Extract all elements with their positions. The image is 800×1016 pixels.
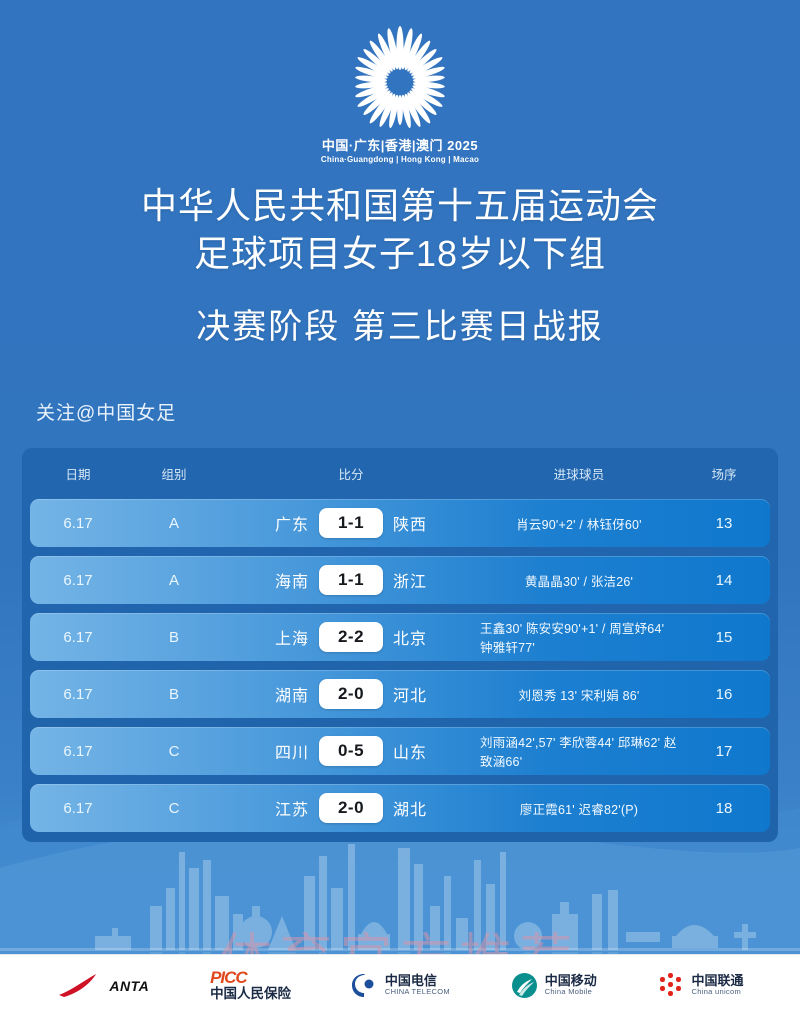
header-match: 比分 [222, 464, 480, 483]
score-pill: 1-1 [319, 565, 383, 595]
cell-match: 湖南 2-0 河北 [222, 679, 480, 709]
cell-date: 6.17 [30, 686, 126, 703]
home-team: 上海 [235, 625, 309, 649]
score-pill: 2-2 [319, 622, 383, 652]
header-scorers: 进球球员 [480, 464, 678, 483]
cell-scorers: 刘恩秀 13' 宋利娟 86' [480, 685, 678, 704]
away-team: 北京 [393, 625, 467, 649]
cell-date: 6.17 [30, 743, 126, 760]
sponsor-bar: ANTA PICC 中国人民保险 中国电信 CHINA TELECOM [0, 954, 800, 1016]
cell-group: A [126, 515, 222, 532]
results-table: 日期 组别 比分 进球球员 场序 6.17 A 广东 1-1 陕西 肖云90'+… [22, 448, 778, 842]
cell-date: 6.17 [30, 572, 126, 589]
table-row[interactable]: 6.17 C 四川 0-5 山东 刘雨涵42',57' 李欣蓉44' 邱琳62'… [30, 727, 770, 775]
score-pill: 0-5 [319, 736, 383, 766]
picc-logo-icon: PICC [210, 969, 291, 987]
sponsor-china-telecom[interactable]: 中国电信 CHINA TELECOM [352, 973, 450, 999]
sponsor-picc[interactable]: PICC 中国人民保险 [210, 969, 291, 1002]
china-telecom-logo-icon [352, 973, 378, 999]
away-team: 山东 [393, 739, 467, 763]
table-row[interactable]: 6.17 A 广东 1-1 陕西 肖云90'+2' / 林钰伢60' 13 [30, 499, 770, 547]
games-emblem: 中国·广东|香港|澳门 2025 China·Guangdong | Hong … [0, 22, 800, 164]
score-pill: 1-1 [319, 508, 383, 538]
page-title: 中华人民共和国第十五届运动会 足球项目女子18岁以下组 决赛阶段 第三比赛日战报 [0, 182, 800, 350]
cell-order: 16 [678, 686, 770, 703]
sponsor-anta[interactable]: ANTA [56, 971, 149, 1001]
cell-group: C [126, 743, 222, 760]
cell-date: 6.17 [30, 800, 126, 817]
title-line-3: 决赛阶段 第三比赛日战报 [0, 304, 800, 350]
header-order: 场序 [678, 464, 770, 483]
sponsor-mobile-label-cn: 中国移动 [545, 974, 597, 988]
sponsor-telecom-label-cn: 中国电信 [385, 974, 450, 988]
header-group: 组别 [126, 464, 222, 483]
cell-scorers: 王鑫30' 陈安安90'+1' / 周宣妤64' 钟雅轩77' [480, 618, 678, 656]
table-row[interactable]: 6.17 B 上海 2-2 北京 王鑫30' 陈安安90'+1' / 周宣妤64… [30, 613, 770, 661]
home-team: 湖南 [235, 682, 309, 706]
cell-group: B [126, 629, 222, 646]
cell-order: 14 [678, 572, 770, 589]
home-team: 江苏 [235, 796, 309, 820]
sponsor-china-unicom[interactable]: 中国联通 China unicom [658, 972, 744, 999]
china-unicom-logo-icon [658, 972, 685, 999]
china-mobile-logo-icon [511, 972, 538, 999]
emblem-title-cn: 中国·广东|香港|澳门 2025 [321, 139, 479, 154]
cell-order: 13 [678, 515, 770, 532]
title-line-2: 足球项目女子18岁以下组 [0, 230, 800, 278]
away-team: 陕西 [393, 511, 467, 535]
sunburst-emblem-icon [338, 22, 462, 134]
sponsor-anta-label: ANTA [109, 978, 149, 994]
table-row[interactable]: 6.17 A 海南 1-1 浙江 黄晶晶30' / 张洁26' 14 [30, 556, 770, 604]
score-pill: 2-0 [319, 679, 383, 709]
sponsor-picc-label: 中国人民保险 [210, 987, 291, 1002]
sponsor-unicom-label-en: China unicom [692, 988, 744, 996]
cell-date: 6.17 [30, 515, 126, 532]
cell-scorers: 刘雨涵42',57' 李欣蓉44' 邱琳62' 赵致涵66' [480, 732, 678, 770]
cell-order: 17 [678, 743, 770, 760]
sponsor-mobile-label-en: China Mobile [545, 988, 597, 996]
score-pill: 2-0 [319, 793, 383, 823]
sponsor-unicom-label-cn: 中国联通 [692, 974, 744, 988]
cell-match: 上海 2-2 北京 [222, 622, 480, 652]
cell-match: 海南 1-1 浙江 [222, 565, 480, 595]
anta-logo-icon [56, 971, 102, 1001]
sponsor-china-mobile[interactable]: 中国移动 China Mobile [511, 972, 597, 999]
away-team: 河北 [393, 682, 467, 706]
cell-group: B [126, 686, 222, 703]
cell-match: 广东 1-1 陕西 [222, 508, 480, 538]
away-team: 浙江 [393, 568, 467, 592]
table-row[interactable]: 6.17 B 湖南 2-0 河北 刘恩秀 13' 宋利娟 86' 16 [30, 670, 770, 718]
skyline-icon [95, 844, 756, 950]
poster-root: 中国·广东|香港|澳门 2025 China·Guangdong | Hong … [0, 0, 800, 1016]
title-line-1: 中华人民共和国第十五届运动会 [0, 182, 800, 230]
table-row[interactable]: 6.17 C 江苏 2-0 湖北 廖正霞61' 迟睿82'(P) 18 [30, 784, 770, 832]
home-team: 四川 [235, 739, 309, 763]
cell-date: 6.17 [30, 629, 126, 646]
cell-match: 四川 0-5 山东 [222, 736, 480, 766]
cell-group: A [126, 572, 222, 589]
cell-order: 15 [678, 629, 770, 646]
cell-scorers: 廖正霞61' 迟睿82'(P) [480, 799, 678, 818]
cell-group: C [126, 800, 222, 817]
home-team: 广东 [235, 511, 309, 535]
table-header-row: 日期 组别 比分 进球球员 场序 [30, 456, 770, 490]
follow-handle: 关注@中国女足 [36, 398, 176, 425]
cell-order: 18 [678, 800, 770, 817]
cell-scorers: 黄晶晶30' / 张洁26' [480, 571, 678, 590]
away-team: 湖北 [393, 796, 467, 820]
home-team: 海南 [235, 568, 309, 592]
cell-scorers: 肖云90'+2' / 林钰伢60' [480, 514, 678, 533]
emblem-title-en: China·Guangdong | Hong Kong | Macao [321, 155, 479, 164]
cell-match: 江苏 2-0 湖北 [222, 793, 480, 823]
header-date: 日期 [30, 464, 126, 483]
sponsor-telecom-label-en: CHINA TELECOM [385, 988, 450, 996]
